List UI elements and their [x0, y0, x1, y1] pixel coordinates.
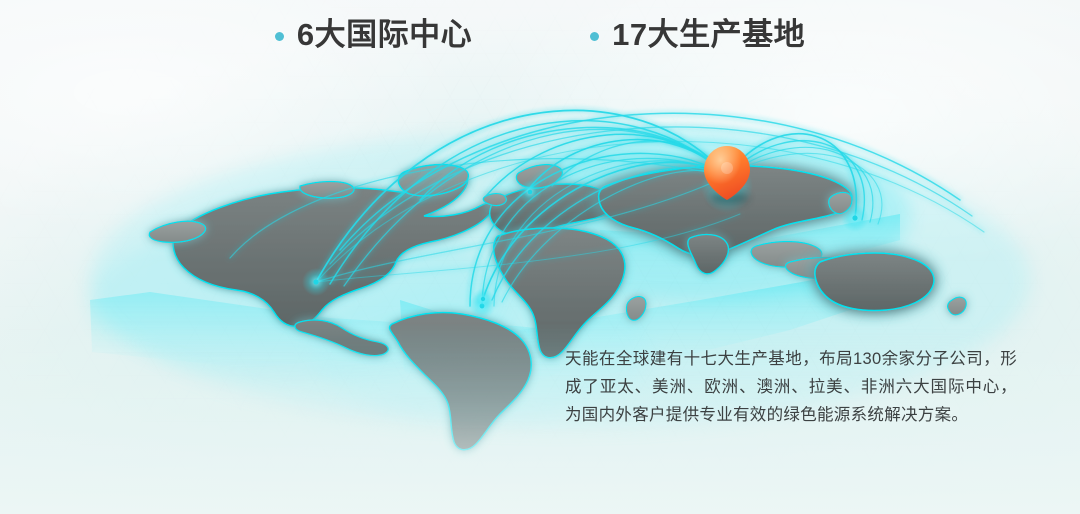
description-paragraph: 天能在全球建有十七大生产基地，布局130余家分子公司，形成了亚太、美洲、欧洲、澳… [565, 345, 1017, 429]
world-map-svg [0, 0, 1080, 514]
slide-canvas: 6大国际中心 17大生产基地 天能在全球建有十七大生产基地，布局130余家分子公… [0, 0, 1080, 514]
bullet-dot-icon [590, 32, 599, 41]
world-map [0, 0, 1080, 514]
headline-production-bases: 17大生产基地 [590, 18, 805, 52]
headline-international-centers: 6大国际中心 [275, 18, 472, 52]
headline-international-centers-label: 6大国际中心 [297, 18, 472, 52]
headline-row: 6大国际中心 17大生产基地 [0, 18, 1080, 52]
bullet-dot-icon [275, 32, 284, 41]
landmass-australia [815, 253, 934, 310]
headline-production-bases-label: 17大生产基地 [612, 18, 805, 52]
